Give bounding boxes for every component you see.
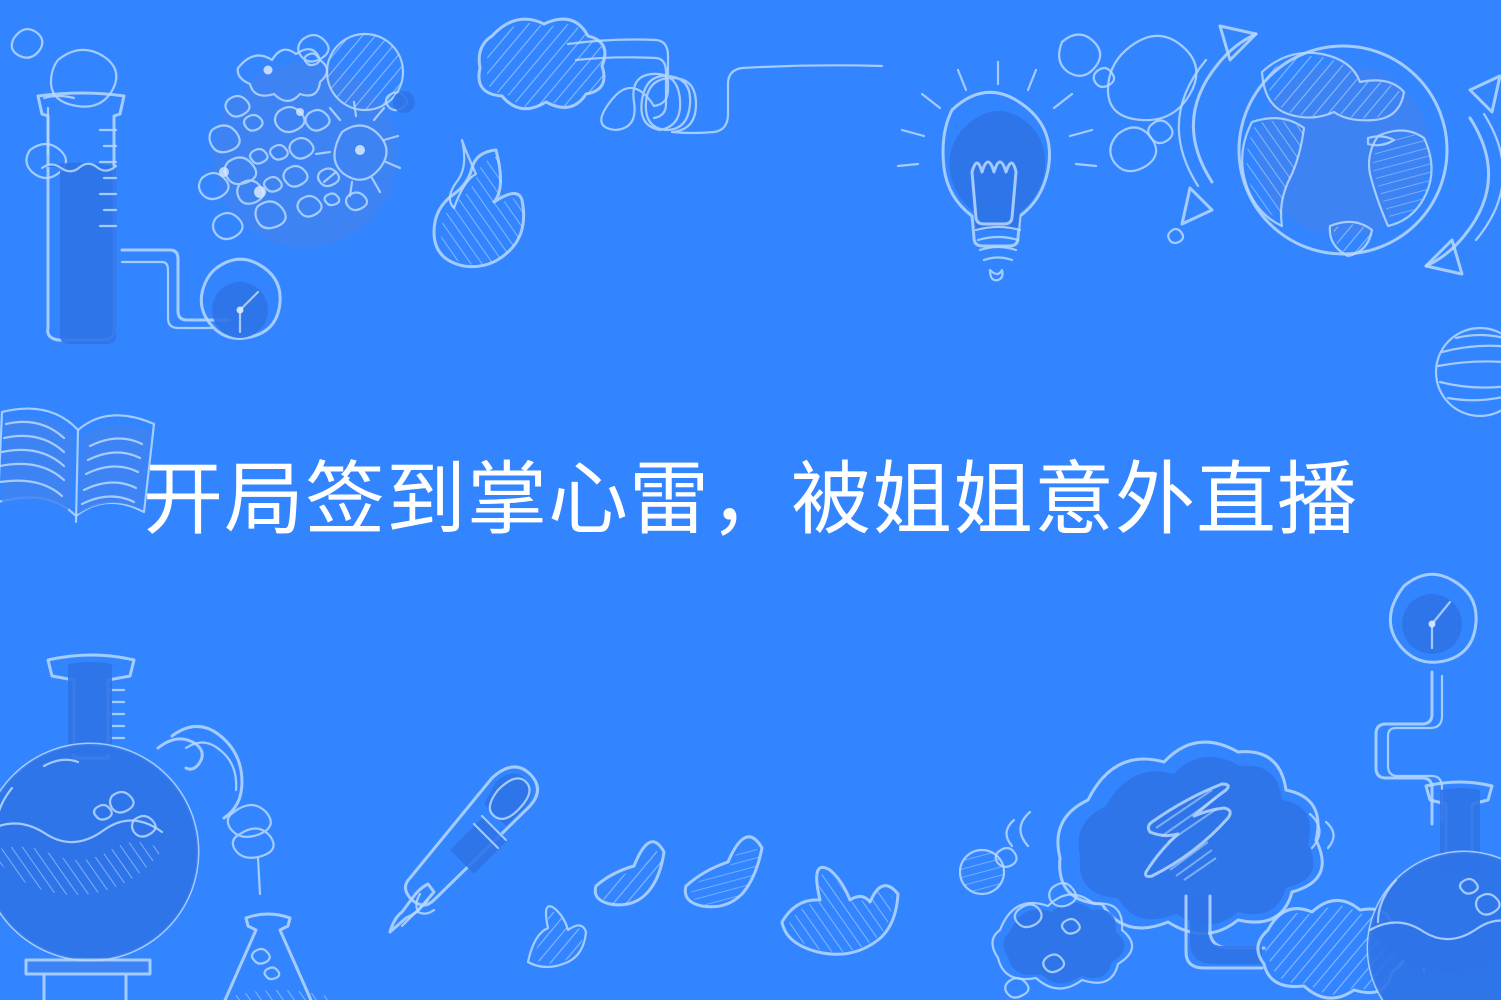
cover-image: 开局签到掌心雷，被姐姐意外直播	[0, 0, 1501, 1000]
background-illustration	[0, 0, 1501, 1000]
